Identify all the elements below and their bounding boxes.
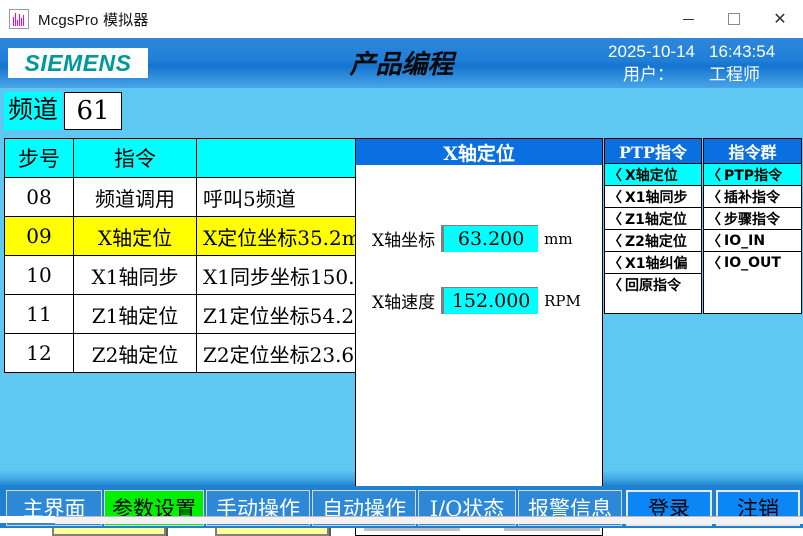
hmi-body: 频道 61 步号指令08频道调用呼叫5频道09X轴定位X定位坐标35.2mm, … bbox=[0, 88, 803, 486]
chevron-left-icon: 〈 bbox=[608, 253, 622, 273]
maximize-button[interactable] bbox=[711, 0, 757, 38]
group-item-2[interactable]: 〈步骤指令 bbox=[704, 207, 801, 229]
cell-no: 09 bbox=[5, 217, 74, 256]
cell-no: 11 bbox=[5, 295, 74, 334]
user-label: 用户： bbox=[623, 63, 695, 86]
dialog-title: X轴定位 bbox=[356, 139, 602, 165]
chevron-left-icon: 〈 bbox=[608, 165, 622, 185]
minimize-icon bbox=[683, 19, 694, 20]
user-value: 工程师 bbox=[709, 63, 795, 86]
command-label: PTP指令 bbox=[724, 165, 782, 185]
command-label: Z2轴定位 bbox=[625, 231, 687, 251]
column-header: 指令 bbox=[74, 139, 197, 178]
channel-label: 频道 bbox=[4, 92, 62, 130]
x-coordinate-unit: mm bbox=[544, 230, 572, 248]
chevron-left-icon: 〈 bbox=[707, 231, 721, 251]
command-label: 步骤指令 bbox=[724, 209, 780, 229]
close-button[interactable]: ✕ bbox=[757, 0, 803, 38]
datetime-line: 2025-10-14 16:43:54 bbox=[608, 40, 795, 63]
chevron-left-icon: 〈 bbox=[707, 209, 721, 229]
cell-cmd: 频道调用 bbox=[74, 178, 197, 217]
channel-input[interactable]: 61 bbox=[64, 92, 122, 130]
command-label: X1轴纠偏 bbox=[625, 253, 688, 273]
command-label: X1轴同步 bbox=[625, 187, 688, 207]
hmi-header: SIEMENS 产品编程 2025-10-14 16:43:54 用户： 工程师 bbox=[0, 38, 803, 88]
cell-cmd: Z1轴定位 bbox=[74, 295, 197, 334]
cell-cmd: Z2轴定位 bbox=[74, 334, 197, 373]
ptp-command-panel: PTP指令 〈X轴定位〈X1轴同步〈Z1轴定位〈Z2轴定位〈X1轴纠偏〈回原指令 bbox=[604, 138, 702, 314]
cell-no: 10 bbox=[5, 256, 74, 295]
window-controls: ✕ bbox=[665, 0, 803, 38]
x-speed-input[interactable]: 152.000 bbox=[441, 287, 538, 314]
ptp-panel-title: PTP指令 bbox=[605, 139, 701, 163]
cell-no: 12 bbox=[5, 334, 74, 373]
chevron-left-icon: 〈 bbox=[707, 253, 721, 273]
application-window: McgsPro 模拟器 ✕ SIEMENS 产品编程 2025-10-14 16… bbox=[0, 0, 803, 523]
group-item-0[interactable]: 〈PTP指令 bbox=[704, 163, 801, 185]
time-value: 16:43:54 bbox=[709, 40, 795, 63]
close-icon: ✕ bbox=[773, 9, 786, 29]
taskbar-strip bbox=[0, 516, 803, 523]
hmi-screen: SIEMENS 产品编程 2025-10-14 16:43:54 用户： 工程师… bbox=[0, 38, 803, 516]
x-axis-position-dialog: X轴定位 X轴坐标 63.200 mm X轴速度 152.000 RPM 坐标读… bbox=[355, 138, 603, 536]
group-item-1[interactable]: 〈插补指令 bbox=[704, 185, 801, 207]
ptp-item-3[interactable]: 〈Z2轴定位 bbox=[605, 229, 701, 251]
x-coordinate-input[interactable]: 63.200 bbox=[441, 225, 538, 252]
chevron-left-icon: 〈 bbox=[707, 165, 721, 185]
cell-cmd: X1轴同步 bbox=[74, 256, 197, 295]
x-speed-unit: RPM bbox=[544, 292, 581, 310]
ptp-item-5[interactable]: 〈回原指令 bbox=[605, 273, 701, 295]
x-coordinate-field: X轴坐标 63.200 mm bbox=[372, 225, 573, 252]
command-label: X轴定位 bbox=[625, 165, 678, 185]
channel-selector: 频道 61 bbox=[4, 92, 122, 130]
group-panel-title: 指令群 bbox=[704, 139, 801, 163]
ptp-item-0[interactable]: 〈X轴定位 bbox=[605, 163, 701, 185]
window-titlebar: McgsPro 模拟器 ✕ bbox=[0, 0, 803, 39]
command-label: Z1轴定位 bbox=[625, 209, 687, 229]
command-label: IO_OUT bbox=[724, 255, 781, 271]
app-icon bbox=[9, 9, 29, 29]
column-header: 步号 bbox=[5, 139, 74, 178]
x-coordinate-label: X轴坐标 bbox=[372, 226, 435, 251]
minimize-button[interactable] bbox=[665, 0, 711, 38]
x-speed-label: X轴速度 bbox=[372, 288, 435, 313]
ptp-item-1[interactable]: 〈X1轴同步 bbox=[605, 185, 701, 207]
chevron-left-icon: 〈 bbox=[707, 187, 721, 207]
x-speed-field: X轴速度 152.000 RPM bbox=[372, 287, 581, 314]
clock-user-block: 2025-10-14 16:43:54 用户： 工程师 bbox=[608, 40, 795, 86]
chevron-left-icon: 〈 bbox=[608, 209, 622, 229]
cell-cmd: X轴定位 bbox=[74, 217, 197, 256]
chevron-left-icon: 〈 bbox=[608, 231, 622, 251]
maximize-icon bbox=[728, 13, 740, 25]
group-item-4[interactable]: 〈IO_OUT bbox=[704, 251, 801, 273]
group-item-3[interactable]: 〈IO_IN bbox=[704, 229, 801, 251]
ptp-item-4[interactable]: 〈X1轴纠偏 bbox=[605, 251, 701, 273]
user-line: 用户： 工程师 bbox=[608, 63, 795, 86]
ptp-item-2[interactable]: 〈Z1轴定位 bbox=[605, 207, 701, 229]
command-label: IO_IN bbox=[724, 233, 765, 249]
chevron-left-icon: 〈 bbox=[608, 275, 622, 295]
command-label: 回原指令 bbox=[625, 275, 681, 295]
window-title: McgsPro 模拟器 bbox=[38, 9, 149, 30]
command-label: 插补指令 bbox=[724, 187, 780, 207]
chevron-left-icon: 〈 bbox=[608, 187, 622, 207]
date-value: 2025-10-14 bbox=[608, 40, 695, 63]
command-group-panel: 指令群 〈PTP指令〈插补指令〈步骤指令〈IO_IN〈IO_OUT bbox=[703, 138, 802, 314]
cell-no: 08 bbox=[5, 178, 74, 217]
